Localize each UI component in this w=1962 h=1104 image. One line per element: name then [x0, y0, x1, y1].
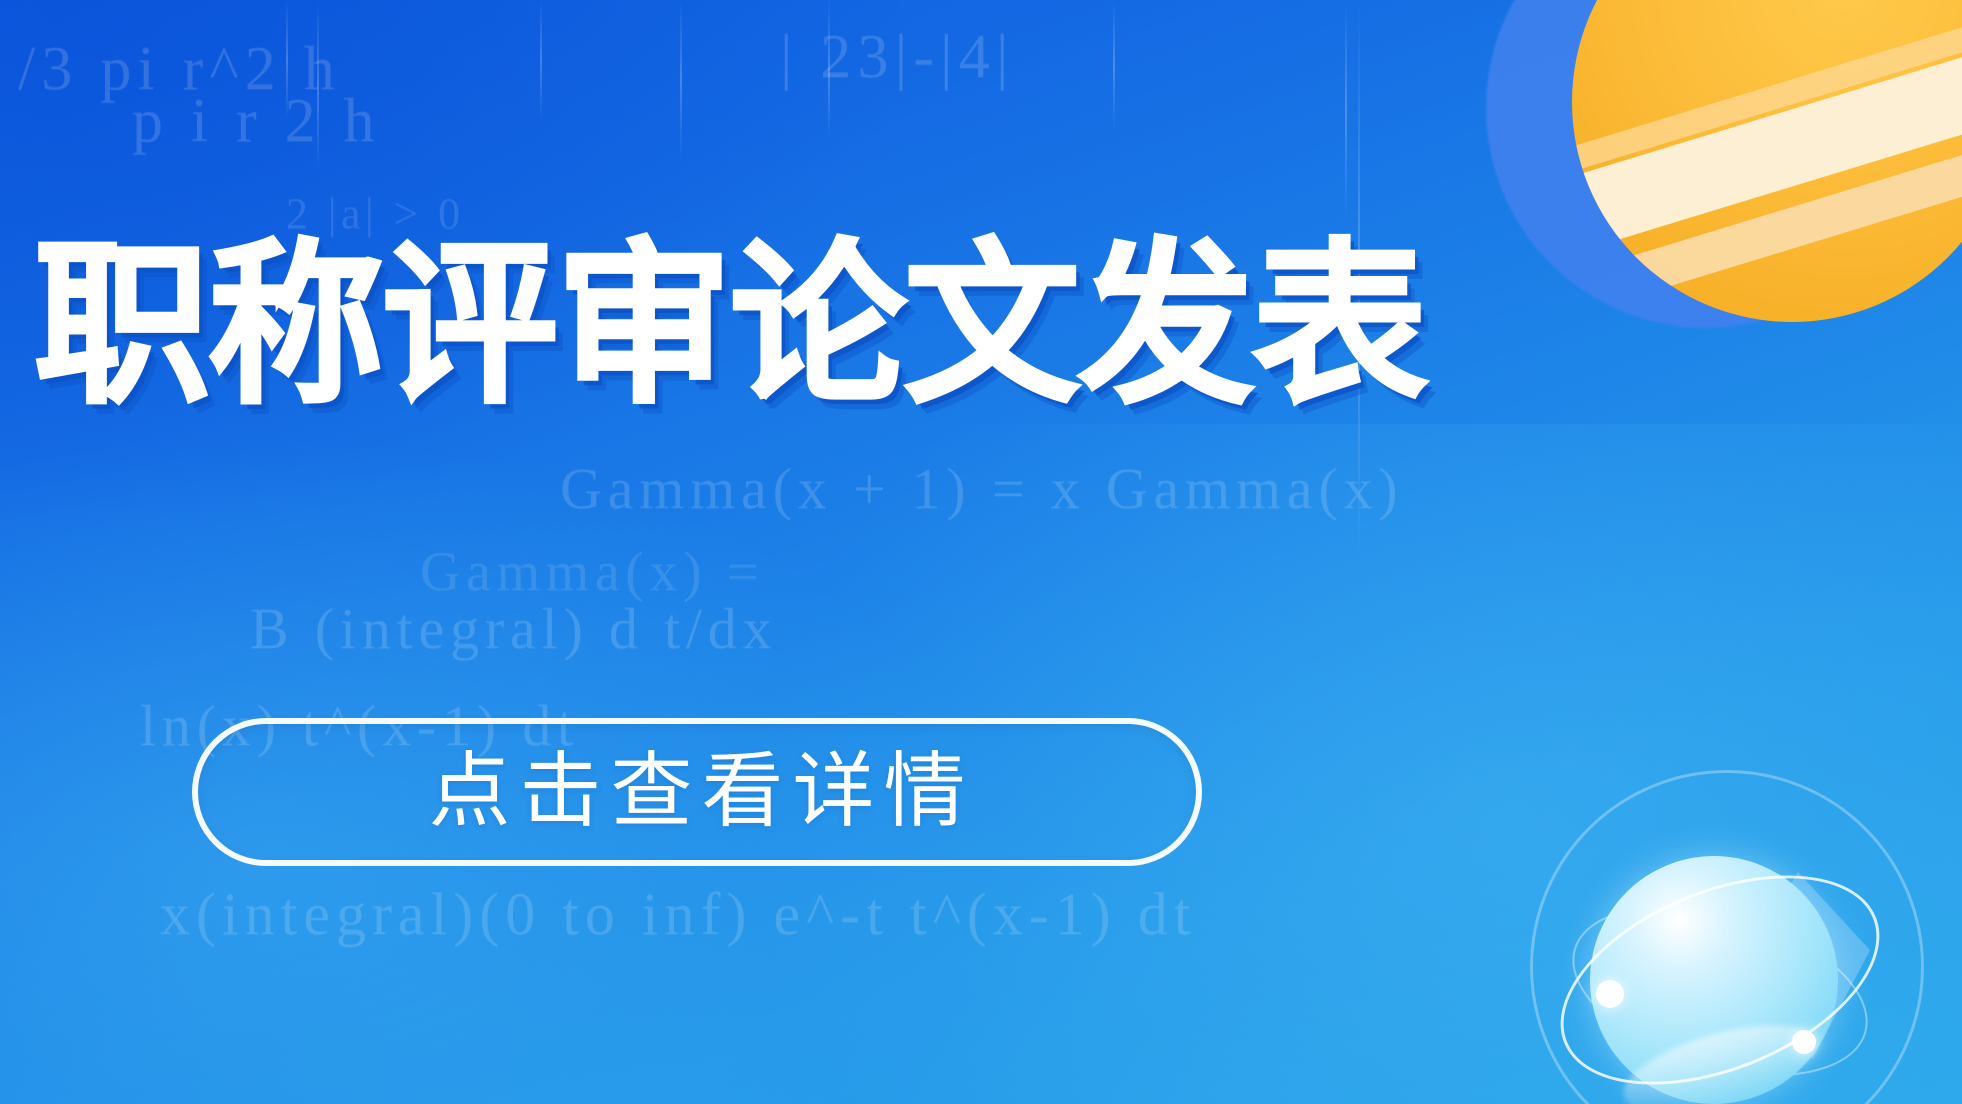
- atom-icon: [1524, 764, 1924, 1104]
- planet-ring-lower: [1572, 126, 1962, 322]
- light-streak: [317, 0, 319, 170]
- background-formula: /3 pi r^2 h: [18, 34, 341, 105]
- view-details-button[interactable]: 点击查看详情: [192, 718, 1202, 866]
- atom-outer-ring: [1530, 770, 1924, 1104]
- light-streak: [1113, 0, 1115, 130]
- atom-core-sheen: [1614, 1008, 1826, 1104]
- planet-icon: [1572, 0, 1962, 342]
- background-formula: Gamma(x + 1) = x Gamma(x): [560, 455, 1403, 522]
- atom-orbit-secondary: [1553, 875, 1888, 1104]
- light-streak: [1345, 0, 1347, 220]
- electron-dot: [1792, 1030, 1816, 1054]
- view-details-button-label: 点击查看详情: [419, 751, 974, 833]
- planet-crescent-shadow: [1486, 0, 1926, 328]
- planet-ring-main: [1572, 30, 1962, 265]
- atom-core-sphere: [1590, 856, 1838, 1104]
- atom-highlight-wedge: [1720, 872, 1870, 1058]
- light-streak: [540, 0, 542, 120]
- planet-body: [1572, 0, 1962, 322]
- background-formula: | 23|-|4|: [780, 22, 1015, 93]
- light-streak: [680, 0, 682, 160]
- background-formula: x(integral)(0 to inf) e^-t t^(x-1) dt: [160, 880, 1196, 949]
- light-streak: [828, 0, 830, 140]
- atom-orbit-primary: [1531, 834, 1910, 1104]
- planet-ring-thin: [1572, 0, 1962, 186]
- background-formula-layer: /3 pi r^2 h p i r 2 h | 23|-|4| 2 |a| > …: [0, 0, 1962, 1104]
- background-formula: p i r 2 h: [132, 86, 381, 157]
- promo-banner: /3 pi r^2 h p i r 2 h | 23|-|4| 2 |a| > …: [0, 0, 1962, 1104]
- background-formula: B (integral) d t/dx: [250, 595, 777, 662]
- background-formula: Gamma(x) =: [420, 540, 764, 604]
- page-title: 职称评审论文发表: [34, 238, 1426, 414]
- light-streak: [286, 0, 288, 120]
- electron-dot: [1596, 980, 1624, 1008]
